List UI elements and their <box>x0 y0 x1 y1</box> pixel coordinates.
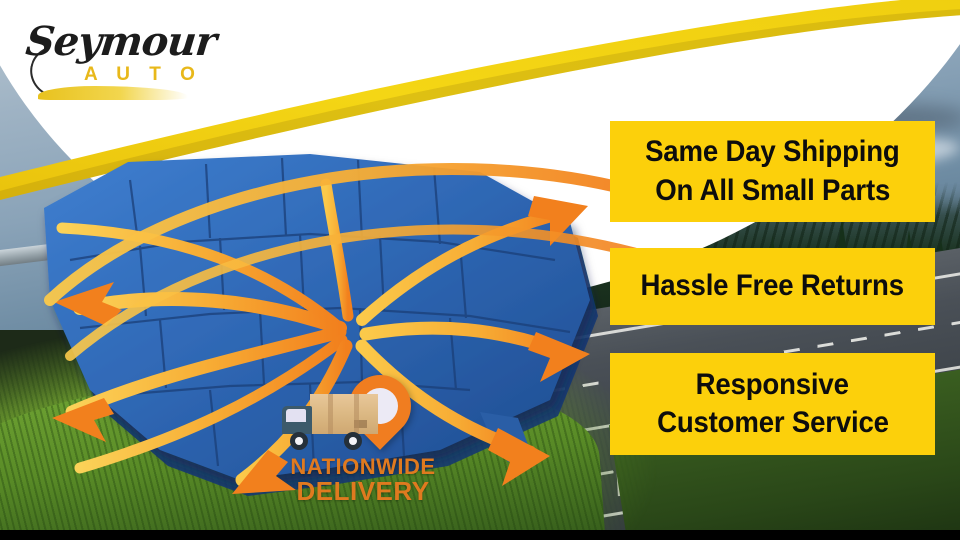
nationwide-delivery-label: NATIONWIDE DELIVERY <box>268 455 458 505</box>
delivery-text: DELIVERY <box>268 478 458 505</box>
banner-line-2: Customer Service <box>657 404 889 442</box>
delivery-truck-icon <box>282 394 378 450</box>
banner-line-1: Hassle Free Returns <box>641 267 904 305</box>
banner-responsive-customer-service[interactable]: Responsive Customer Service <box>610 353 935 455</box>
logo-brand-sub: A U T O <box>84 64 202 86</box>
truck-cargo-box <box>310 394 378 434</box>
banner-line-2: On All Small Parts <box>655 172 890 210</box>
banner-hassle-free-returns[interactable]: Hassle Free Returns <box>610 248 935 325</box>
truck-wheel <box>290 432 308 450</box>
banner-line-1: Responsive <box>696 366 849 404</box>
truck-wheel <box>344 432 362 450</box>
nationwide-text: NATIONWIDE <box>268 455 458 478</box>
banner-line-1: Same Day Shipping <box>645 133 900 171</box>
promo-banner-stage: NATIONWIDE DELIVERY Seymour A U T O Same… <box>0 0 960 540</box>
logo-yellow-swoosh-icon <box>38 86 188 100</box>
logo-brand-name: Seymour <box>24 18 219 65</box>
banner-same-day-shipping[interactable]: Same Day Shipping On All Small Parts <box>610 121 935 222</box>
seymour-auto-logo[interactable]: Seymour A U T O <box>18 10 208 102</box>
bottom-black-bar <box>0 530 960 540</box>
truck-window <box>286 409 306 422</box>
nationwide-map-graphic: NATIONWIDE DELIVERY <box>10 150 650 510</box>
truck-cab <box>282 406 312 434</box>
truck-box-label <box>354 420 367 428</box>
